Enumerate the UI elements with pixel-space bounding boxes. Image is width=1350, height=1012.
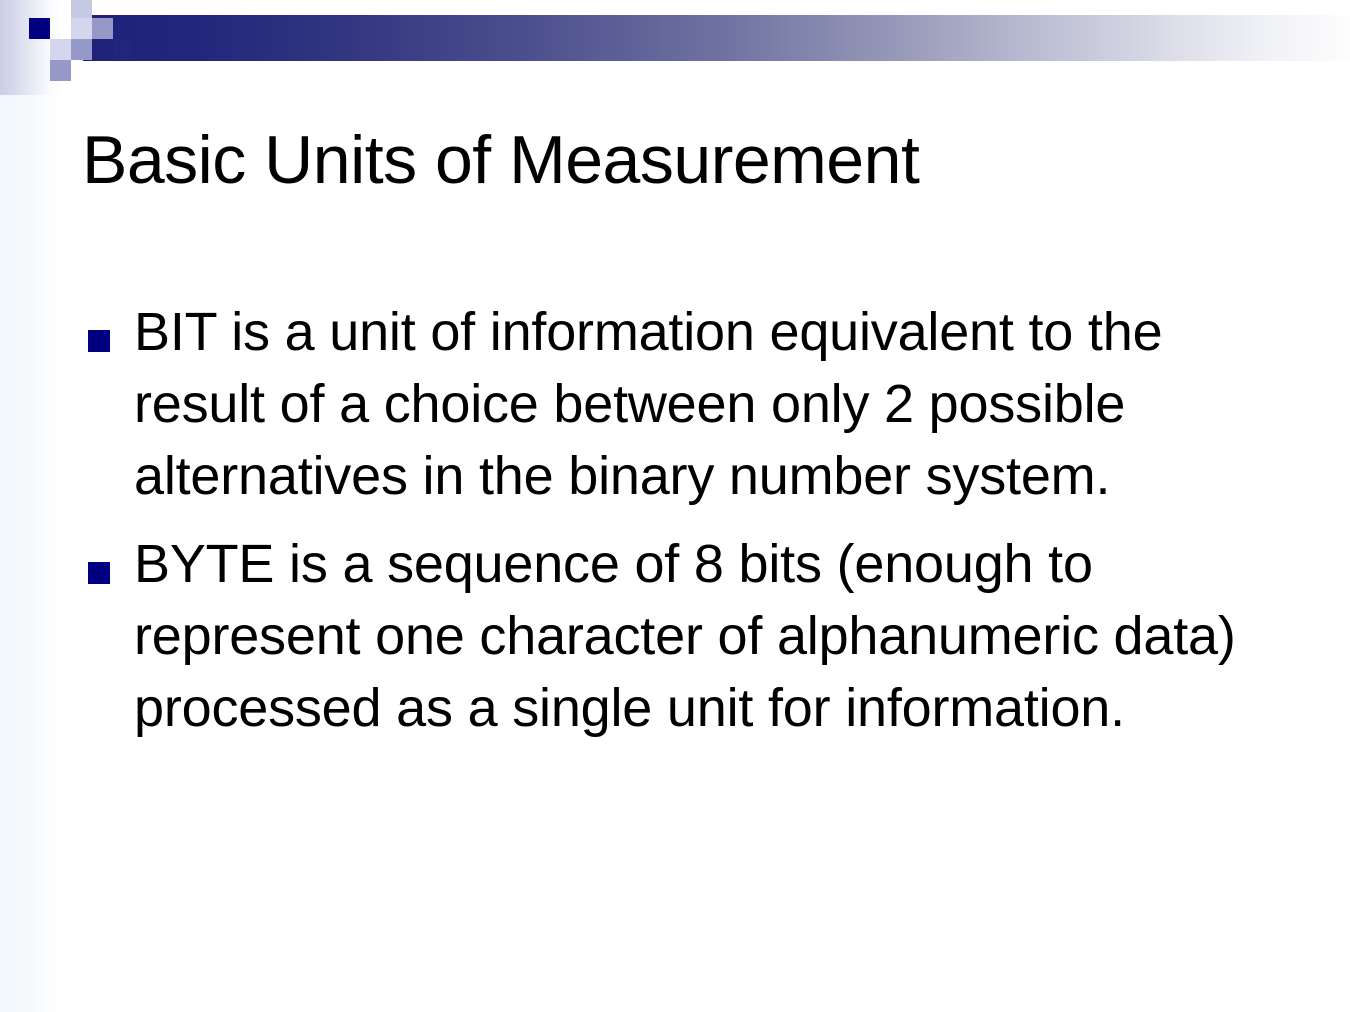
decor-square-darkblue bbox=[113, 39, 134, 60]
left-gradient-strip bbox=[0, 0, 62, 1012]
list-item: BYTE is a sequence of 8 bits (enough to … bbox=[84, 528, 1274, 744]
decor-square-mid-a bbox=[92, 18, 113, 39]
page-title: Basic Units of Measurement bbox=[82, 124, 1272, 197]
square-bullet-icon bbox=[88, 330, 110, 352]
decor-square-navy bbox=[29, 18, 50, 39]
decor-square-light-c bbox=[71, 18, 92, 39]
decor-square-mid-c bbox=[50, 60, 71, 81]
decor-square-light-b bbox=[50, 39, 71, 60]
header-gradient-bar bbox=[83, 15, 1350, 61]
list-item-label: BYTE is a sequence of 8 bits (enough to … bbox=[134, 528, 1274, 744]
decor-square-light-a bbox=[71, 0, 92, 18]
square-bullet-icon bbox=[88, 562, 110, 584]
slide-canvas: Basic Units of Measurement BIT is a unit… bbox=[0, 0, 1350, 1012]
bullet-list: BIT is a unit of information equivalent … bbox=[84, 296, 1274, 760]
decor-square-mid-b bbox=[71, 39, 92, 60]
list-item-label: BIT is a unit of information equivalent … bbox=[134, 296, 1274, 512]
list-item: BIT is a unit of information equivalent … bbox=[84, 296, 1274, 512]
